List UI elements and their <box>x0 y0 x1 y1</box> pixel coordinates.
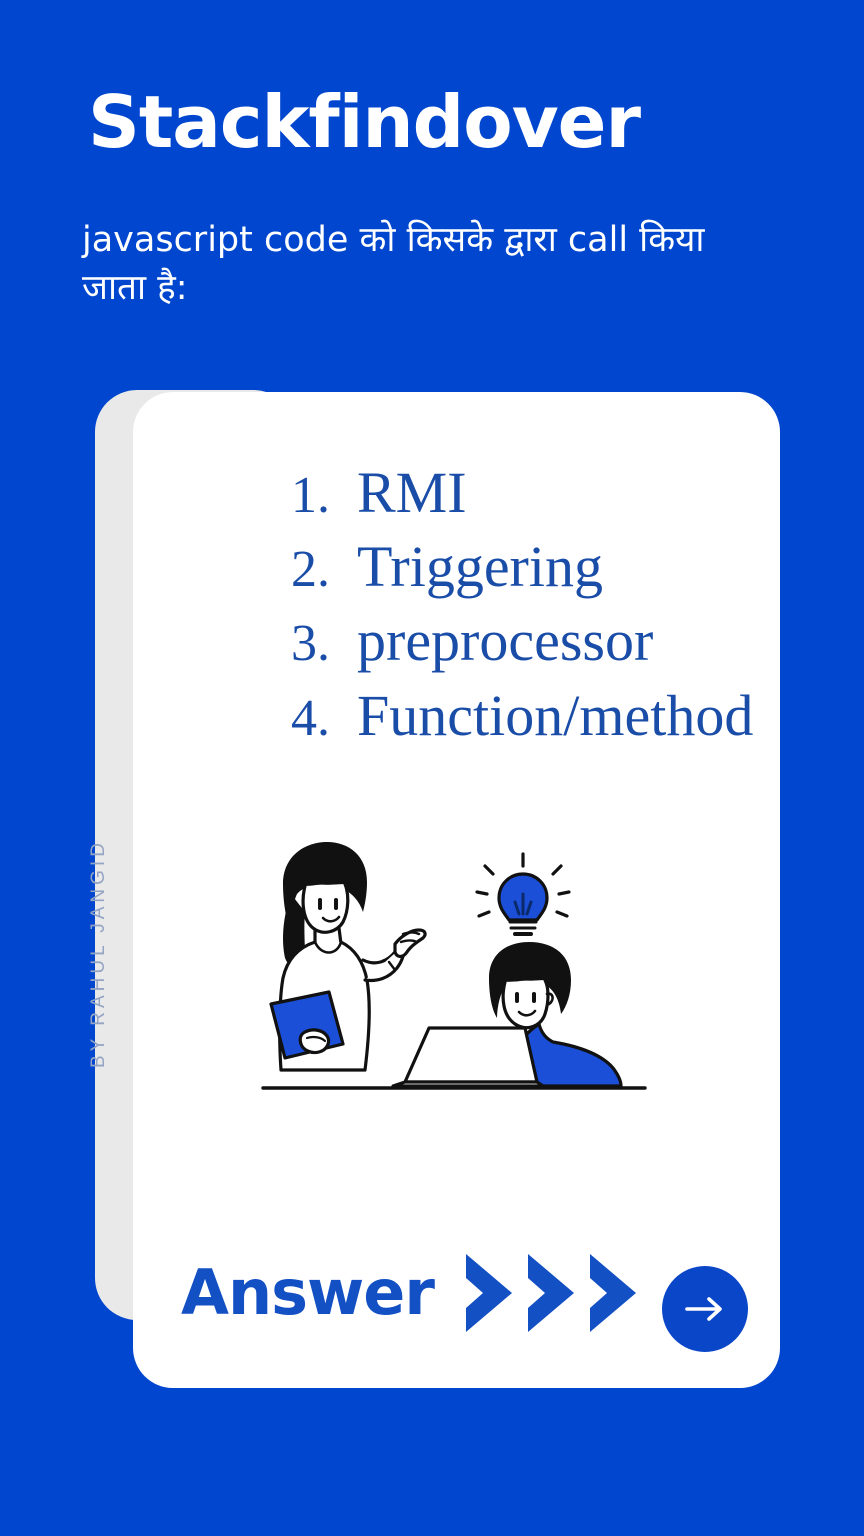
question-card: 1. RMI 2. Triggering 3. preprocessor 4. … <box>133 392 780 1388</box>
list-item[interactable]: 1. RMI <box>291 456 780 530</box>
byline-author: BY RAHUL JANGID <box>88 768 110 1068</box>
lightbulb-idea-icon <box>477 854 569 934</box>
lightbulb-ray-r <box>559 892 569 894</box>
option-number: 1. <box>291 463 357 530</box>
chevron-right-icon <box>584 1250 642 1336</box>
list-item[interactable]: 4. Function/method <box>291 679 780 753</box>
option-number: 3. <box>291 611 357 678</box>
option-number: 4. <box>291 686 357 753</box>
list-item[interactable]: 3. preprocessor <box>291 604 780 678</box>
option-label: Triggering <box>357 530 603 604</box>
option-label: preprocessor <box>357 604 653 678</box>
lightbulb-ray-br <box>557 912 567 916</box>
laptop-screen <box>405 1028 537 1082</box>
lightbulb-ray-tr <box>553 866 561 874</box>
lightbulb-ray-tl <box>485 866 493 874</box>
person-face <box>503 980 548 1028</box>
page-title: Stackfindover <box>88 86 640 158</box>
arrow-right-icon <box>683 1294 727 1324</box>
lightbulb-ray-l <box>477 892 487 894</box>
options-list: 1. RMI 2. Triggering 3. preprocessor 4. … <box>291 456 780 753</box>
lightbulb-base <box>510 922 536 928</box>
lightbulb-ray-bl <box>479 912 489 916</box>
chevron-group <box>460 1250 642 1336</box>
list-item[interactable]: 2. Triggering <box>291 530 780 604</box>
option-label: RMI <box>357 456 467 530</box>
woman-face <box>303 884 348 932</box>
answer-label: Answer <box>181 1262 434 1324</box>
two-people-laptop-idea-illustration <box>253 832 653 1102</box>
option-number: 2. <box>291 537 357 604</box>
laptop-base <box>393 1082 543 1086</box>
poster-canvas: Stackfindover javascript code को किसके द… <box>0 0 864 1536</box>
question-text: javascript code को किसके द्वारा call किय… <box>82 216 762 313</box>
chevron-right-icon <box>522 1250 580 1336</box>
option-label: Function/method <box>357 679 753 753</box>
chevron-right-icon <box>460 1250 518 1336</box>
next-button[interactable] <box>662 1266 748 1352</box>
woman-hand-open <box>395 930 425 957</box>
